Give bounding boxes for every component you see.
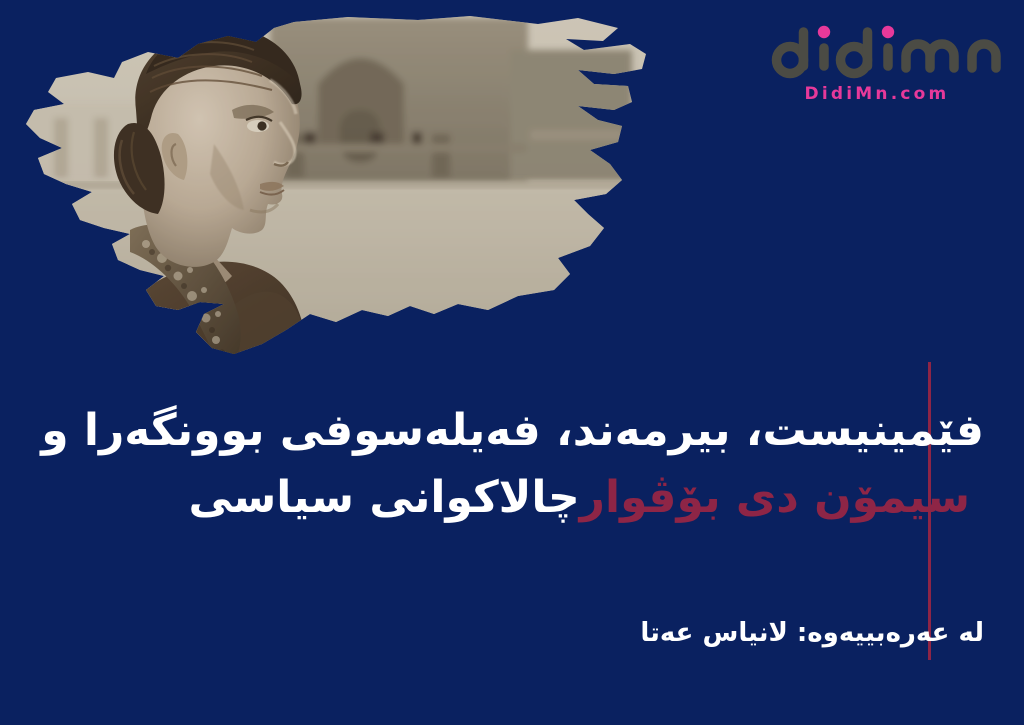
headline-line-2: سیمۆن دی بۆڤوارچالاکوانی سیاسی: [104, 465, 984, 532]
portrait-photo-svg: [18, 14, 648, 394]
brand-logo[interactable]: DidiMn.com: [752, 18, 1002, 104]
headline-line-1: فێمینیست، بیرمەند، فەیلەسوفی بوونگەرا و: [104, 398, 984, 465]
subject-name: سیمۆن دی بۆڤوار: [580, 472, 970, 523]
headline-line-2-description: چالاکوانی سیاسی: [189, 472, 580, 523]
headline-block: فێمینیست، بیرمەند، فەیلەسوفی بوونگەرا و …: [104, 398, 984, 532]
portrait-photo: [18, 14, 648, 394]
logo-domain-text: DidiMn.com: [752, 84, 1002, 104]
logo-dot-1: [818, 26, 830, 38]
didimn-wordmark-icon: [770, 18, 1002, 80]
poster-canvas: DidiMn.com فێمینیست، بیرمەند، فەیلەسوفی …: [0, 0, 1024, 725]
translator-credit: لە عەرەبییەوە: لانیاس عەتا: [104, 618, 984, 648]
logo-dot-2: [882, 26, 894, 38]
